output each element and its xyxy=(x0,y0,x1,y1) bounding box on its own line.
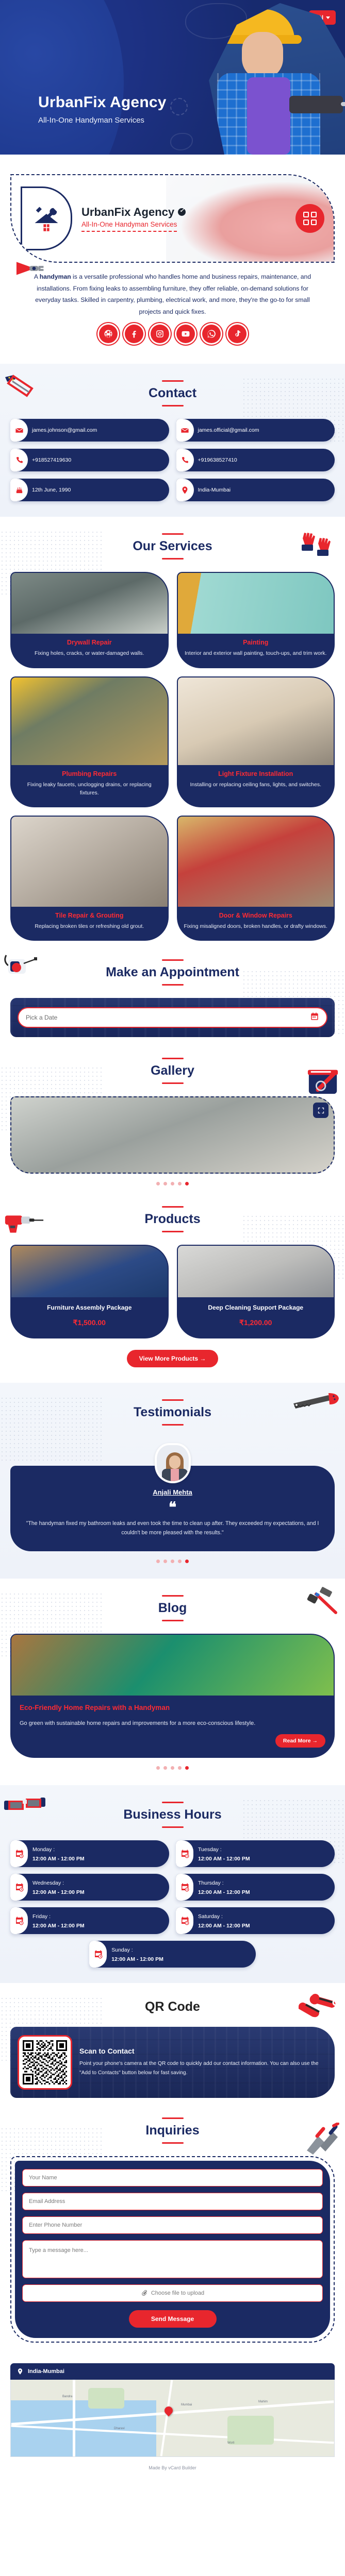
business-hours-time: 12:00 AM - 12:00 PM xyxy=(32,1923,85,1929)
service-name: Door & Window Repairs xyxy=(184,912,328,919)
service-name: Painting xyxy=(184,639,328,646)
paint-bucket-icon xyxy=(306,1064,341,1097)
business-hours-day: Sunday : xyxy=(111,1947,133,1953)
website-icon xyxy=(104,329,113,338)
hero-banner: EN UrbanFix Agency All-In-One Handyman S… xyxy=(0,0,345,155)
pagination-dot[interactable] xyxy=(156,1182,160,1185)
service-desc: Fixing leaky faucets, unclogging drains,… xyxy=(18,781,161,798)
service-card[interactable]: Door & Window Repairs Fixing misaligned … xyxy=(177,816,335,941)
section-title: QR Code xyxy=(145,1999,200,2014)
business-hours-time: 12:00 AM - 12:00 PM xyxy=(32,1889,85,1895)
inquiries-section: Inquiries Your Name Email Address Enter … xyxy=(0,2113,345,2358)
map-header: India-Mumbai xyxy=(10,2363,335,2380)
section-title: Testimonials xyxy=(134,1405,211,1420)
location-pin-icon xyxy=(17,2368,24,2375)
social-link-website[interactable] xyxy=(99,325,118,343)
youtube-icon xyxy=(181,329,190,338)
hero-text-block: UrbanFix Agency All-In-One Handyman Serv… xyxy=(0,94,345,125)
verified-badge-icon xyxy=(178,208,186,216)
map-label: Dharavi xyxy=(114,2427,125,2430)
map-road xyxy=(73,2380,75,2456)
business-hours-day: Saturday : xyxy=(198,1913,223,1920)
service-desc: Replacing broken tiles or refreshing old… xyxy=(18,922,161,930)
business-hours-heading: Business Hours xyxy=(10,1802,335,1828)
services-grid: Drywall Repair Fixing holes, cracks, or … xyxy=(10,572,335,941)
business-hours-row: Tuesday :12:00 AM - 12:00 PM xyxy=(176,1840,335,1867)
whatsapp-icon xyxy=(207,329,216,338)
service-image xyxy=(11,677,168,765)
section-title: Contact xyxy=(149,386,196,401)
trowel-icon xyxy=(302,2123,340,2158)
date-picker-input[interactable]: Pick a Date xyxy=(18,1007,327,1028)
footer-credit: Made By vCard Builder xyxy=(0,2457,345,2481)
testimonial-slide: Anjali Mehta ❝ "The handyman fixed my ba… xyxy=(10,1443,335,1551)
qr-heading: QR Code xyxy=(10,1999,335,2014)
business-hours-time: 12:00 AM - 12:00 PM xyxy=(198,1889,250,1895)
phone-placeholder: Enter Phone Number xyxy=(29,2222,82,2228)
expand-icon xyxy=(317,1107,325,1114)
pagination-dot[interactable] xyxy=(178,1182,182,1185)
inquiries-heading: Inquiries xyxy=(10,2117,335,2144)
instagram-icon xyxy=(155,329,165,338)
business-hours-time: 12:00 AM - 12:00 PM xyxy=(111,1956,163,1962)
map-canvas[interactable]: Mumbai Dharavi Bandra Worli Mahim xyxy=(10,2380,335,2457)
inquiry-form: Your Name Email Address Enter Phone Numb… xyxy=(15,2161,330,2338)
map-label: Mahim xyxy=(258,2400,268,2403)
map-road xyxy=(160,2380,173,2456)
product-price: ₹1,500.00 xyxy=(17,1318,162,1327)
business-hours-section: Business Hours Monday :12:00 AM - 12:00 … xyxy=(0,1785,345,1983)
hero-subtitle: All-In-One Handyman Services xyxy=(38,116,345,125)
product-name: Deep Cleaning Support Package xyxy=(183,1303,329,1312)
service-card[interactable]: Drywall Repair Fixing holes, cracks, or … xyxy=(10,572,169,668)
contact-value: james.johnson@gmail.com xyxy=(32,427,101,433)
message-placeholder: Type a message here... xyxy=(29,2247,88,2253)
social-link-facebook[interactable] xyxy=(125,325,143,343)
email-icon xyxy=(10,419,28,442)
service-name: Tile Repair & Grouting xyxy=(18,912,161,919)
blog-post-title: Eco-Friendly Home Repairs with a Handyma… xyxy=(20,1704,325,1711)
calendar-clock-icon xyxy=(89,1941,107,1968)
business-hours-day: Thursday : xyxy=(198,1880,224,1886)
blog-section: Blog Eco-Friendly Home Repairs with a Ha… xyxy=(0,1579,345,1785)
products-section: Products Furniture Assembly Package ₹1,5… xyxy=(0,1201,345,1382)
quote-mark-icon: ❝ xyxy=(21,1500,324,1515)
contact-item-email-1[interactable]: james.johnson@gmail.com xyxy=(10,419,169,442)
wrenches-icon xyxy=(297,1991,341,2018)
service-desc: Installing or replacing ceiling fans, li… xyxy=(184,781,328,789)
vcard-page: EN UrbanFix Agency All-In-One Handyman S… xyxy=(0,0,345,2481)
chevron-down-icon xyxy=(326,16,330,19)
email-input[interactable]: Email Address xyxy=(22,2193,323,2210)
pagination-dot[interactable] xyxy=(163,1766,167,1770)
pagination-dot[interactable] xyxy=(171,1766,174,1770)
blog-post-description: Go green with sustainable home repairs a… xyxy=(20,1719,325,1728)
cake-icon xyxy=(10,479,28,501)
social-link-instagram[interactable] xyxy=(151,325,169,343)
company-identity: UrbanFix Agency All-In-One Handyman Serv… xyxy=(81,206,186,232)
calendar-clock-icon xyxy=(10,1907,28,1934)
service-desc: Fixing misaligned doors, broken handles,… xyxy=(184,922,328,930)
contact-item-email-2[interactable]: james.official@gmail.com xyxy=(176,419,335,442)
social-link-whatsapp[interactable] xyxy=(202,325,221,343)
social-link-tiktok[interactable] xyxy=(228,325,247,343)
section-title: Business Hours xyxy=(123,1807,221,1822)
service-desc: Fixing holes, cracks, or water-damaged w… xyxy=(18,649,161,657)
business-hours-row: Saturday :12:00 AM - 12:00 PM xyxy=(176,1907,335,1934)
gallery-heading: Gallery xyxy=(10,1058,335,1084)
service-desc: Interior and exterior wall painting, tou… xyxy=(184,649,328,657)
map-park xyxy=(227,2416,274,2445)
view-more-products-button[interactable]: View More Products → xyxy=(127,1350,219,1367)
qr-code-image[interactable] xyxy=(18,2035,72,2090)
email-icon xyxy=(176,419,194,442)
service-name: Light Fixture Installation xyxy=(184,770,328,777)
map-park xyxy=(88,2388,124,2409)
testimonials-heading: Testimonials xyxy=(10,1399,335,1426)
contact-value: james.official@gmail.com xyxy=(198,427,264,433)
contact-heading: Contact xyxy=(10,380,335,406)
testimonials-section: Testimonials Anjali Mehta ❝ "The handyma… xyxy=(0,1383,345,1579)
pagination-dot[interactable] xyxy=(156,1560,160,1563)
testimonials-pagination-dots[interactable] xyxy=(10,1551,335,1563)
business-hours-day: Tuesday : xyxy=(198,1846,222,1853)
power-drill-icon xyxy=(3,1212,45,1236)
appointment-section: Make an Appointment Pick a Date xyxy=(0,956,345,1053)
section-title: Products xyxy=(144,1212,200,1227)
business-hours-day: Friday : xyxy=(32,1913,51,1920)
pagination-dot[interactable] xyxy=(171,1560,174,1563)
gallery-section: Gallery xyxy=(0,1053,345,1201)
social-links xyxy=(10,319,335,359)
qr-card-description: Point your phone's camera at the QR code… xyxy=(79,2059,325,2078)
send-message-button[interactable]: Send Message xyxy=(129,2310,217,2328)
contact-item-location[interactable]: India-Mumbai xyxy=(176,479,335,501)
business-hours-row: Thursday :12:00 AM - 12:00 PM xyxy=(176,1874,335,1901)
contact-section: Contact james.johnson@gmail.com james.of… xyxy=(0,364,345,517)
qr-card: Scan to Contact Point your phone's camer… xyxy=(10,2027,335,2098)
business-hours-list: Monday :12:00 AM - 12:00 PM Tuesday :12:… xyxy=(10,1840,335,1968)
qr-shortcut-button[interactable] xyxy=(295,204,324,233)
handsaw-icon xyxy=(292,1392,342,1413)
service-name: Plumbing Repairs xyxy=(18,770,161,777)
profile-card: UrbanFix Agency All-In-One Handyman Serv… xyxy=(10,174,335,263)
contact-value: 12th June, 1990 xyxy=(32,487,75,493)
contact-value: +918527419630 xyxy=(32,457,75,463)
section-title: Make an Appointment xyxy=(106,965,239,980)
products-grid: Furniture Assembly Package ₹1,500.00 Dee… xyxy=(10,1245,335,1338)
service-card[interactable]: Light Fixture Installation Installing or… xyxy=(177,676,335,808)
calendar-icon[interactable] xyxy=(310,1012,319,1024)
blog-post-card[interactable]: Eco-Friendly Home Repairs with a Handyma… xyxy=(10,1634,335,1758)
appointment-heading: Make an Appointment xyxy=(10,959,335,986)
avatar xyxy=(155,1443,191,1483)
pagination-dot[interactable] xyxy=(163,1560,167,1563)
service-image xyxy=(178,677,334,765)
products-heading: Products xyxy=(10,1206,335,1232)
hero-swoosh-decoration xyxy=(0,0,124,155)
pagination-dot[interactable] xyxy=(171,1182,174,1185)
product-price: ₹1,200.00 xyxy=(183,1318,329,1327)
tape-measure-icon xyxy=(3,952,41,981)
location-icon xyxy=(176,479,194,501)
qr-code-icon xyxy=(303,212,317,225)
phone-input[interactable]: Enter Phone Number xyxy=(22,2216,323,2234)
social-link-youtube[interactable] xyxy=(176,325,195,343)
business-hours-day: Wednesday : xyxy=(32,1880,64,1886)
map-label: Mumbai xyxy=(181,2403,192,2406)
calendar-clock-icon xyxy=(176,1874,193,1901)
blog-heading: Blog xyxy=(10,1595,335,1621)
pliers-icon xyxy=(15,260,51,277)
calendar-clock-icon xyxy=(10,1840,28,1867)
contact-value: India-Mumbai xyxy=(198,487,235,493)
company-name: UrbanFix Agency xyxy=(81,206,174,219)
business-hours-row: Monday :12:00 AM - 12:00 PM xyxy=(10,1840,169,1867)
gallery-pagination-dots[interactable] xyxy=(10,1174,335,1185)
appointment-card: Pick a Date xyxy=(10,998,335,1037)
read-more-button[interactable]: Read More → xyxy=(275,1734,325,1748)
inquiry-form-frame: Your Name Email Address Enter Phone Numb… xyxy=(10,2156,335,2343)
section-title: Blog xyxy=(158,1601,187,1616)
service-image xyxy=(11,817,168,907)
section-title: Our Services xyxy=(133,539,212,554)
services-section: Our Services Drywall Repair Fixing holes… xyxy=(0,517,345,956)
product-image xyxy=(178,1246,334,1297)
company-logo xyxy=(21,187,72,250)
work-gloves-icon xyxy=(301,530,339,559)
contact-item-birthday[interactable]: 12th June, 1990 xyxy=(10,479,169,501)
paperclip-icon xyxy=(141,2290,147,2296)
hacksaw-icon xyxy=(2,373,38,399)
service-image xyxy=(178,573,334,634)
name-input[interactable]: Your Name xyxy=(22,2169,323,2187)
pagination-dot-active[interactable] xyxy=(185,1182,189,1185)
company-tagline: All-In-One Handyman Services xyxy=(81,221,177,232)
file-upload-label: Choose file to upload xyxy=(151,2290,204,2296)
service-name: Drywall Repair xyxy=(18,639,161,646)
pagination-dot[interactable] xyxy=(178,1560,182,1563)
blog-pagination-dots[interactable] xyxy=(10,1758,335,1770)
product-name: Furniture Assembly Package xyxy=(17,1303,162,1312)
qr-card-title: Scan to Contact xyxy=(79,2047,325,2055)
qr-section: QR Code xyxy=(0,1983,345,2113)
date-placeholder: Pick a Date xyxy=(26,1014,57,1021)
product-card[interactable]: Deep Cleaning Support Package ₹1,200.00 xyxy=(177,1245,335,1338)
business-hours-row: Sunday :12:00 AM - 12:00 PM xyxy=(89,1941,256,1968)
hammer-icon xyxy=(303,1587,340,1617)
safety-glasses-icon xyxy=(3,1794,47,1819)
pagination-dot[interactable] xyxy=(156,1766,160,1770)
message-textarea[interactable]: Type a message here... xyxy=(22,2240,323,2278)
services-heading: Our Services xyxy=(10,533,335,560)
service-image xyxy=(178,817,334,907)
section-title: Inquiries xyxy=(145,2123,199,2138)
file-upload-input[interactable]: Choose file to upload xyxy=(22,2284,323,2302)
hero-title: UrbanFix Agency xyxy=(38,94,345,111)
hero-blob-decoration xyxy=(170,133,193,150)
pagination-dot[interactable] xyxy=(178,1766,182,1770)
pagination-dot-active[interactable] xyxy=(185,1766,189,1770)
testimonial-author: Anjali Mehta xyxy=(21,1488,324,1496)
about-section: UrbanFix Agency All-In-One Handyman Serv… xyxy=(0,155,345,364)
service-image xyxy=(11,573,168,634)
business-hours-row: Friday :12:00 AM - 12:00 PM xyxy=(10,1907,169,1934)
service-card[interactable]: Painting Interior and exterior wall pain… xyxy=(177,572,335,668)
business-hours-day: Monday : xyxy=(32,1846,55,1853)
calendar-clock-icon xyxy=(10,1874,28,1901)
business-hours-row: Wednesday :12:00 AM - 12:00 PM xyxy=(10,1874,169,1901)
name-placeholder: Your Name xyxy=(29,2175,57,2181)
map-location-label: India-Mumbai xyxy=(28,2368,64,2375)
pagination-dot-active[interactable] xyxy=(185,1560,189,1563)
business-hours-time: 12:00 AM - 12:00 PM xyxy=(198,1856,250,1862)
product-image xyxy=(11,1246,168,1297)
contact-value: +919638527410 xyxy=(198,457,241,463)
calendar-clock-icon xyxy=(176,1840,193,1867)
gallery-expand-button[interactable] xyxy=(313,1103,328,1118)
phone-icon xyxy=(176,449,194,471)
facebook-icon xyxy=(129,329,139,338)
blog-image xyxy=(11,1635,334,1696)
about-description: A handyman is a versatile professional w… xyxy=(10,263,335,319)
gallery-slide[interactable] xyxy=(10,1096,335,1174)
map-label: Bandra xyxy=(62,2395,72,2398)
pagination-dot[interactable] xyxy=(163,1182,167,1185)
service-card[interactable]: Tile Repair & Grouting Replacing broken … xyxy=(10,816,169,941)
contact-list: james.johnson@gmail.com james.official@g… xyxy=(10,419,335,501)
section-title: Gallery xyxy=(151,1063,194,1078)
business-hours-time: 12:00 AM - 12:00 PM xyxy=(198,1923,250,1929)
business-hours-time: 12:00 AM - 12:00 PM xyxy=(32,1856,85,1862)
calendar-clock-icon xyxy=(176,1907,193,1934)
about-text-rest: is a versatile professional who handles … xyxy=(35,273,311,315)
map-label: Worli xyxy=(227,2442,235,2445)
contact-item-phone-2[interactable]: +919638527410 xyxy=(176,449,335,471)
contact-item-phone-1[interactable]: +918527419630 xyxy=(10,449,169,471)
email-placeholder: Email Address xyxy=(29,2198,65,2205)
product-card[interactable]: Furniture Assembly Package ₹1,500.00 xyxy=(10,1245,169,1338)
map-section: India-Mumbai Mumbai Dharavi Bandra Worli… xyxy=(0,2358,345,2457)
service-card[interactable]: Plumbing Repairs Fixing leaky faucets, u… xyxy=(10,676,169,808)
testimonial-quote: "The handyman fixed my bathroom leaks an… xyxy=(21,1519,324,1538)
phone-icon xyxy=(10,449,28,471)
tiktok-icon xyxy=(233,329,242,338)
